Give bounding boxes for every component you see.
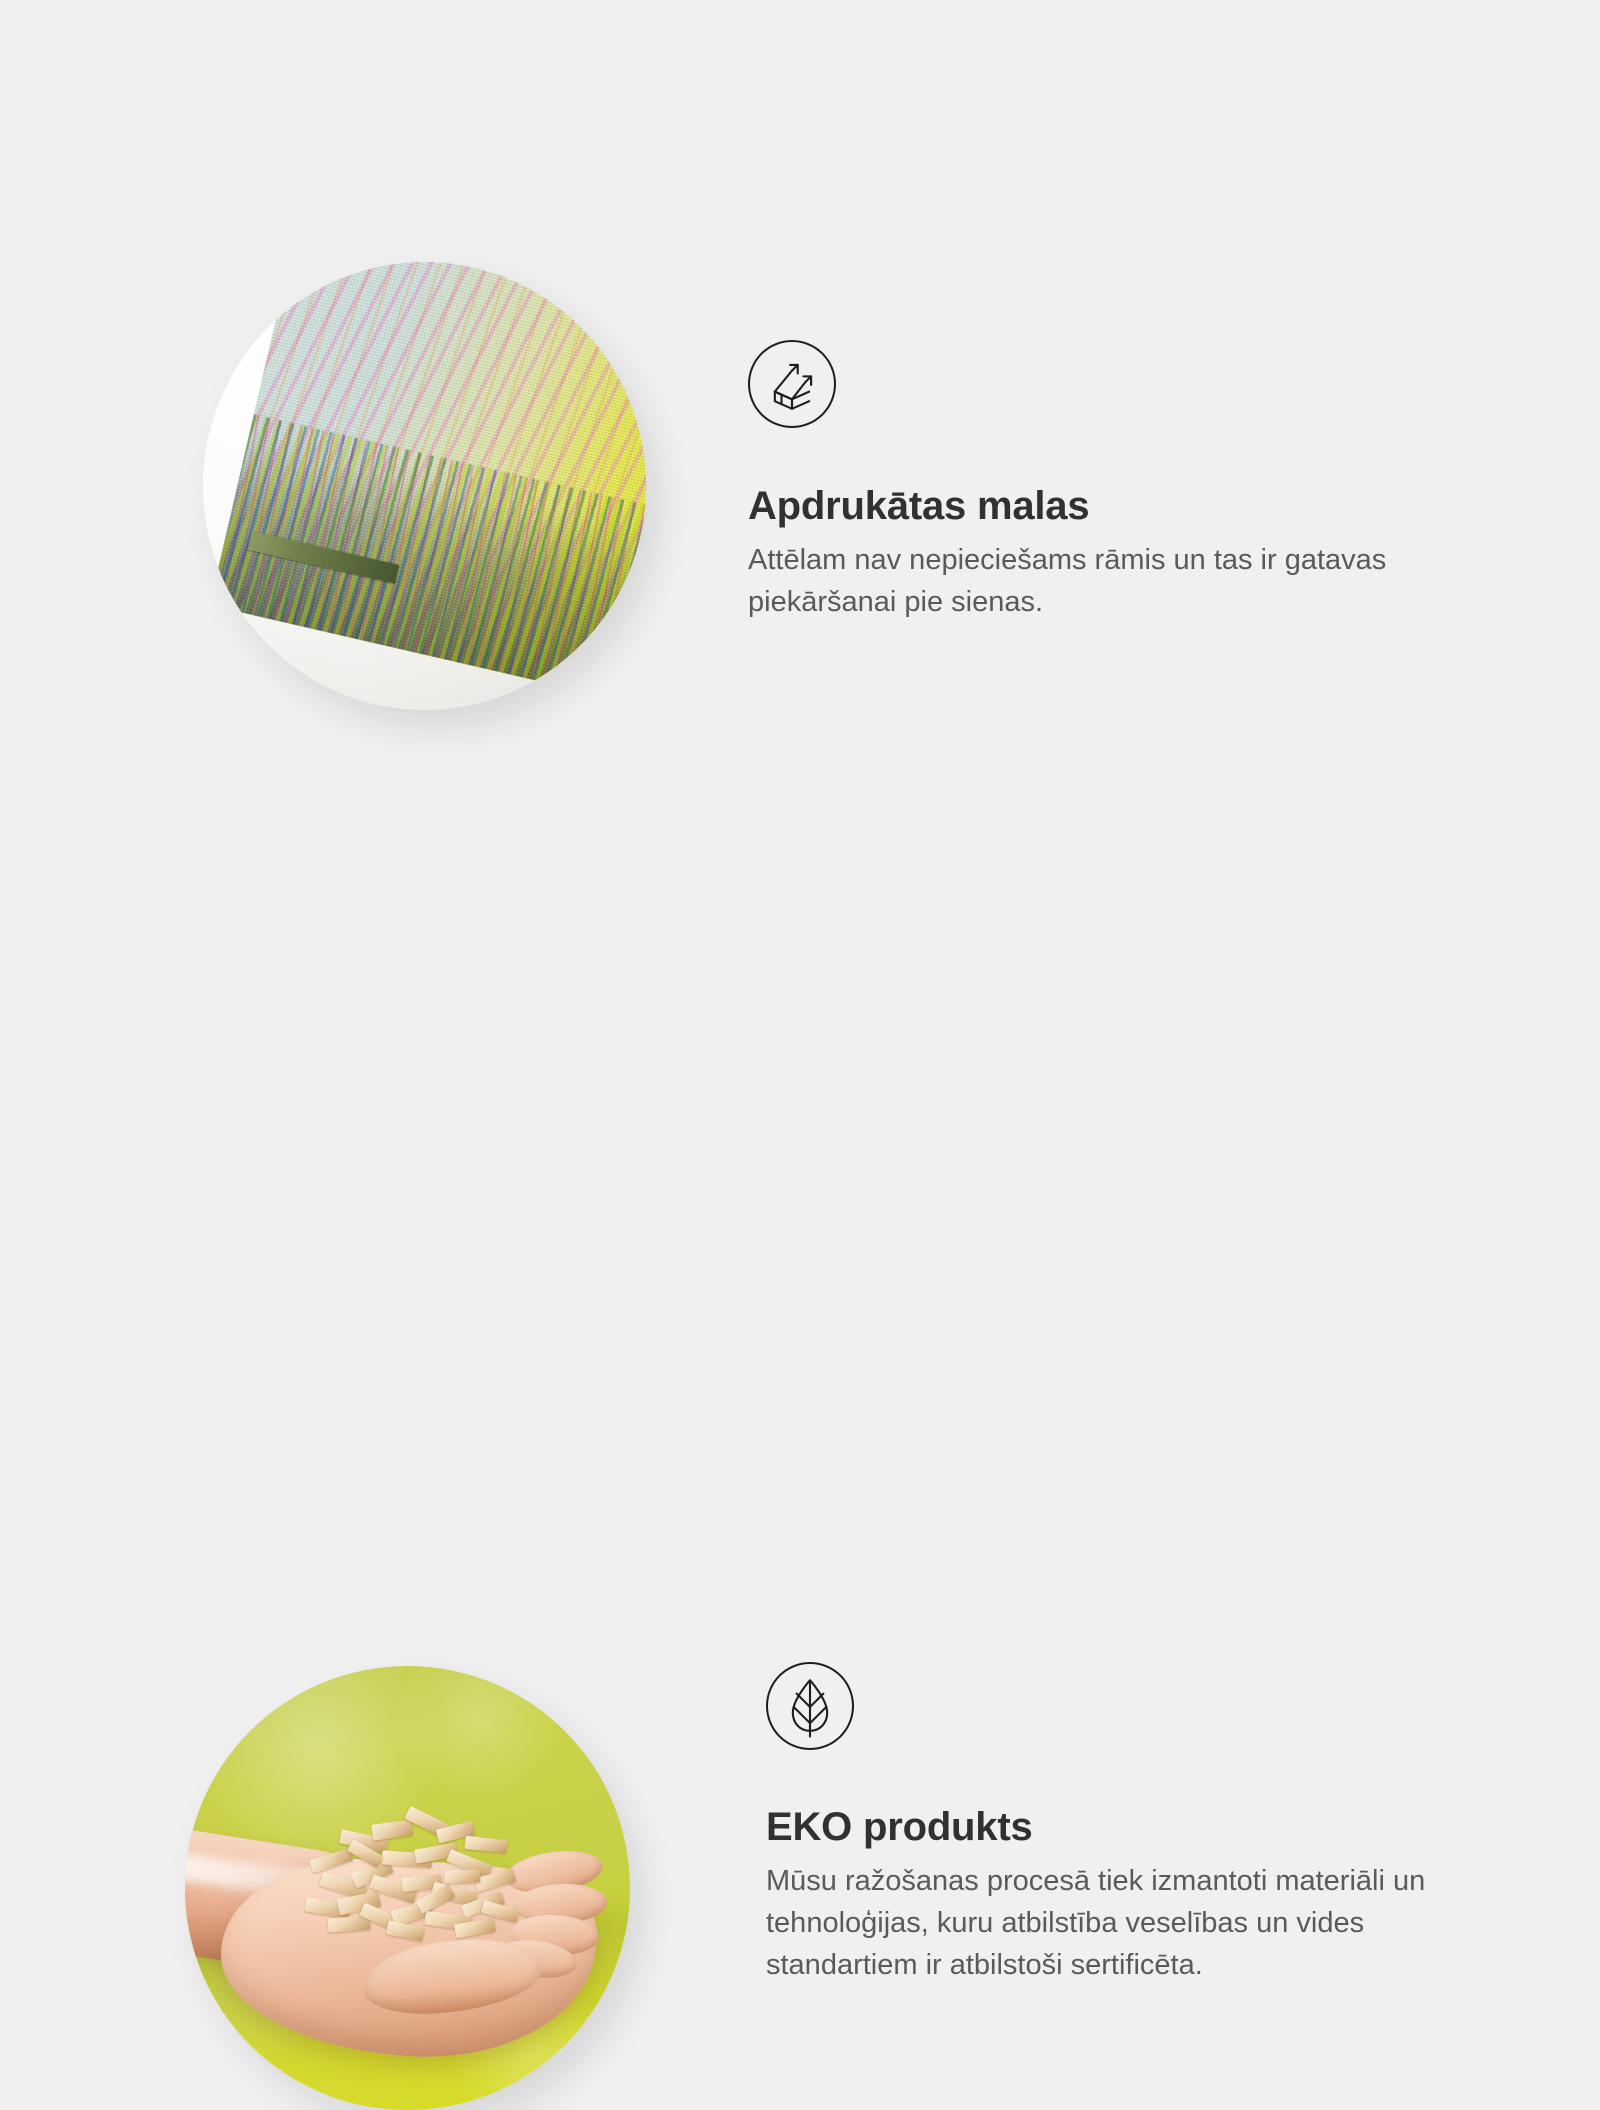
wood-chip (327, 1916, 370, 1933)
feature-title-eko-product: EKO produkts (766, 1750, 1476, 1850)
wood-chip (371, 1819, 413, 1840)
printed-edges-icon (748, 340, 836, 428)
feature-info-page: Apdrukātas malas Attēlam nav nepieciešam… (0, 0, 1600, 1600)
wood-chip-pile (305, 1799, 554, 1959)
feature-body-printed-edges: Attēlam nav nepieciešams rāmis un tas ir… (748, 529, 1448, 624)
wood-chip (309, 1847, 353, 1872)
eko-product-text-column: EKO produkts Mūsu ražošanas procesā tiek… (766, 1662, 1476, 1986)
feature-body-eko-product: Mūsu ražošanas procesā tiek izmantoti ma… (766, 1850, 1476, 1986)
feature-title-printed-edges: Apdrukātas malas (748, 428, 1448, 529)
wood-chip (464, 1835, 507, 1852)
wood-chip (444, 1869, 479, 1883)
feature-block-eko-product: EKO produkts Mūsu ražošanas procesā tiek… (0, 800, 1600, 1600)
wood-chip (386, 1920, 426, 1942)
wood-chips-in-hands-photo (185, 1666, 630, 2110)
printed-edges-text-column: Apdrukātas malas Attēlam nav nepieciešam… (748, 340, 1448, 624)
feature-block-printed-edges: Apdrukātas malas Attēlam nav nepieciešam… (0, 0, 1600, 800)
leaf-icon (766, 1662, 854, 1750)
canvas-printed-edge-photo (203, 262, 646, 710)
